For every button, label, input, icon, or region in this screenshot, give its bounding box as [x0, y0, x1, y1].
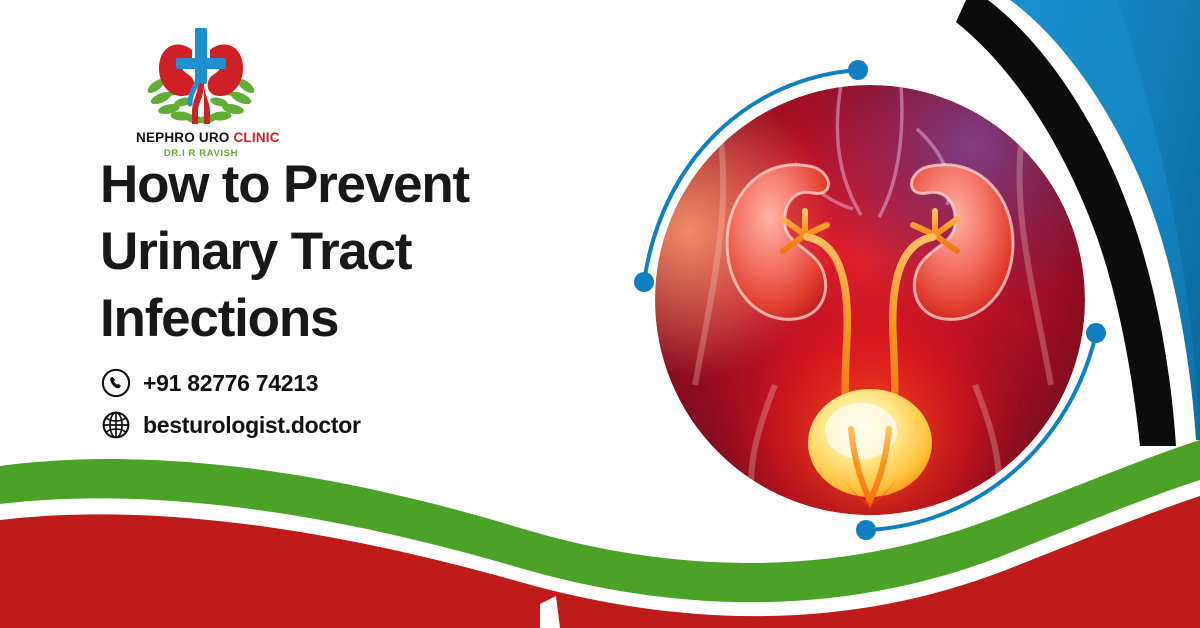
banner-root: NEPHRO URO CLINIC DR.I R RAVISH How to P… — [0, 0, 1200, 628]
urinary-tract-illustration — [655, 85, 1085, 515]
orbit-dot-bottom — [856, 520, 876, 540]
contact-phone-label: +91 82776 74213 — [143, 370, 318, 397]
logo-wordmark: NEPHRO URO CLINIC — [136, 131, 266, 146]
phone-icon — [101, 368, 131, 398]
orbit-dot-top — [848, 60, 868, 80]
wave-red — [0, 496, 1200, 628]
contact-website[interactable]: besturologist.doctor — [101, 404, 521, 446]
wave-green — [0, 440, 1200, 628]
logo-mark-icon — [136, 20, 266, 130]
logo-wordmark-primary: NEPHRO URO — [136, 130, 233, 145]
logo-wordmark-accent: CLINIC — [233, 130, 279, 145]
contact-phone[interactable]: +91 82776 74213 — [101, 362, 521, 404]
contact-website-label: besturologist.doctor — [143, 412, 361, 439]
orbit-dot-right — [1086, 323, 1106, 343]
orbit-dot-left — [634, 272, 654, 292]
urinary-tract-artwork — [655, 85, 1085, 515]
wave-notch — [540, 596, 560, 628]
wave-white-gap — [0, 480, 1200, 628]
page-title: How to Prevent Urinary Tract Infections — [100, 152, 570, 352]
logo[interactable]: NEPHRO URO CLINIC DR.I R RAVISH — [136, 20, 266, 159]
contact-list: +91 82776 74213 besturologist.doctor — [101, 362, 521, 446]
globe-icon — [101, 410, 131, 440]
blue-swoosh-inner — [1118, 0, 1200, 446]
